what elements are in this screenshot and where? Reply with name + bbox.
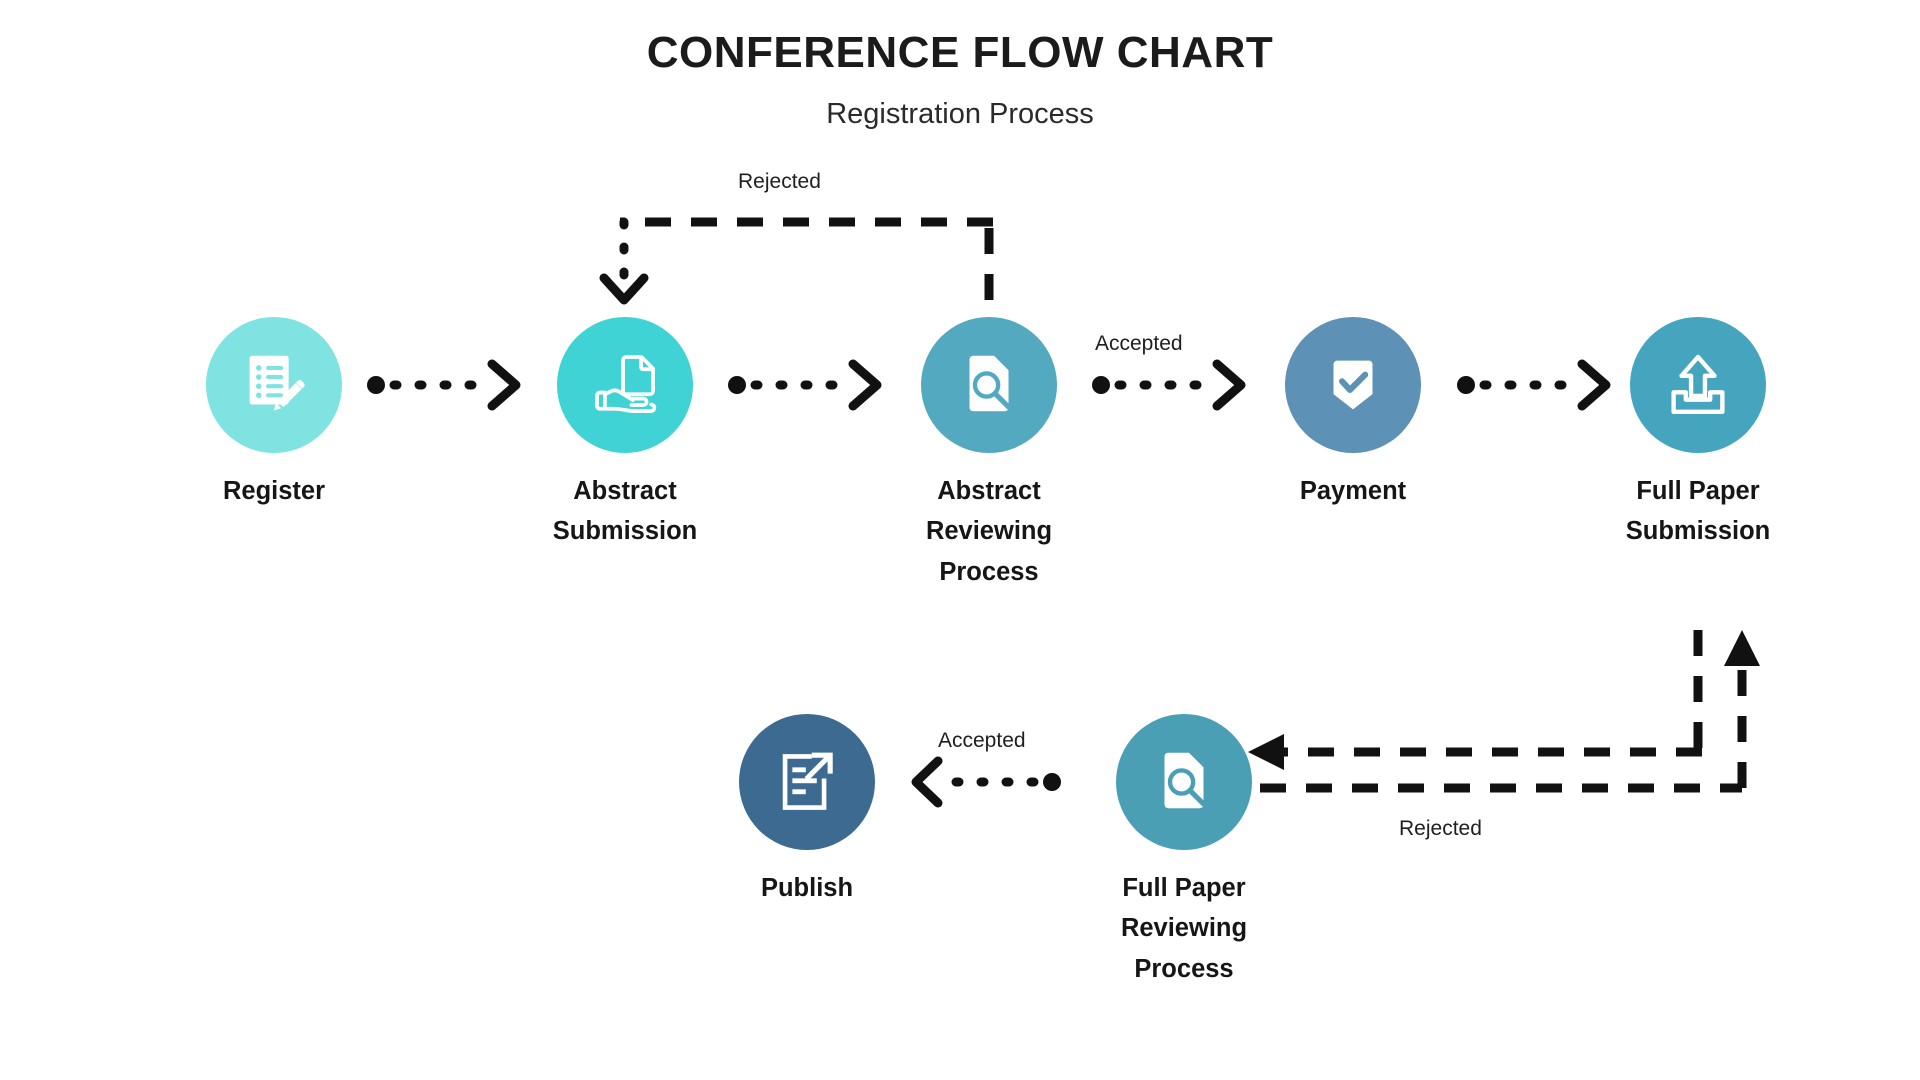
node-label: Publish [687,868,927,908]
node-full-paper-submission[interactable]: Full Paper Submission [1578,317,1818,552]
node-label: Abstract Submission [505,471,745,552]
clipboard-pencil-icon [235,346,313,424]
full-paper-reviewing-circle[interactable] [1116,714,1252,850]
node-label: Full Paper Submission [1578,471,1818,552]
edge-accepted-abstract-to-payment [1092,364,1241,406]
publish-circle[interactable] [739,714,875,850]
node-payment[interactable]: Payment [1233,317,1473,511]
abstract-reviewing-circle[interactable] [921,317,1057,453]
node-publish[interactable]: Publish [687,714,927,908]
edge-accepted-to-publish [916,761,1061,803]
node-abstract-reviewing[interactable]: Abstract Reviewing Process [869,317,1109,592]
node-full-paper-reviewing[interactable]: Full Paper Reviewing Process [1064,714,1304,989]
flowchart-canvas: CONFERENCE FLOW CHART Registration Proce… [0,0,1920,1080]
edge-label-rejected-full-paper: Rejected [1399,817,1482,841]
edge-rejected-full-paper-loop [1260,630,1760,788]
page-subtitle: Registration Process [0,98,1920,131]
document-search-icon [950,346,1028,424]
node-label: Payment [1233,471,1473,511]
node-register[interactable]: Register [154,317,394,511]
page-title: CONFERENCE FLOW CHART [0,28,1920,78]
node-label: Register [154,471,394,511]
edge-label-rejected-abstract: Rejected [738,170,821,194]
edge-full-paper-submission-to-reviewing [1248,630,1702,770]
document-export-icon [768,743,846,821]
edge-label-accepted-publish: Accepted [938,729,1026,753]
full-paper-submission-circle[interactable] [1630,317,1766,453]
node-label: Abstract Reviewing Process [869,471,1109,592]
abstract-submission-circle[interactable] [557,317,693,453]
edge-rejected-abstract-loop [604,222,993,300]
node-label: Full Paper Reviewing Process [1064,868,1304,989]
payment-circle[interactable] [1285,317,1421,453]
shield-check-icon [1314,346,1392,424]
upload-tray-icon [1659,346,1737,424]
document-search-icon [1145,743,1223,821]
edge-abstract-submission-to-abstract-reviewing [728,364,877,406]
node-abstract-submission[interactable]: Abstract Submission [505,317,745,552]
hand-document-icon [586,346,664,424]
register-circle[interactable] [206,317,342,453]
